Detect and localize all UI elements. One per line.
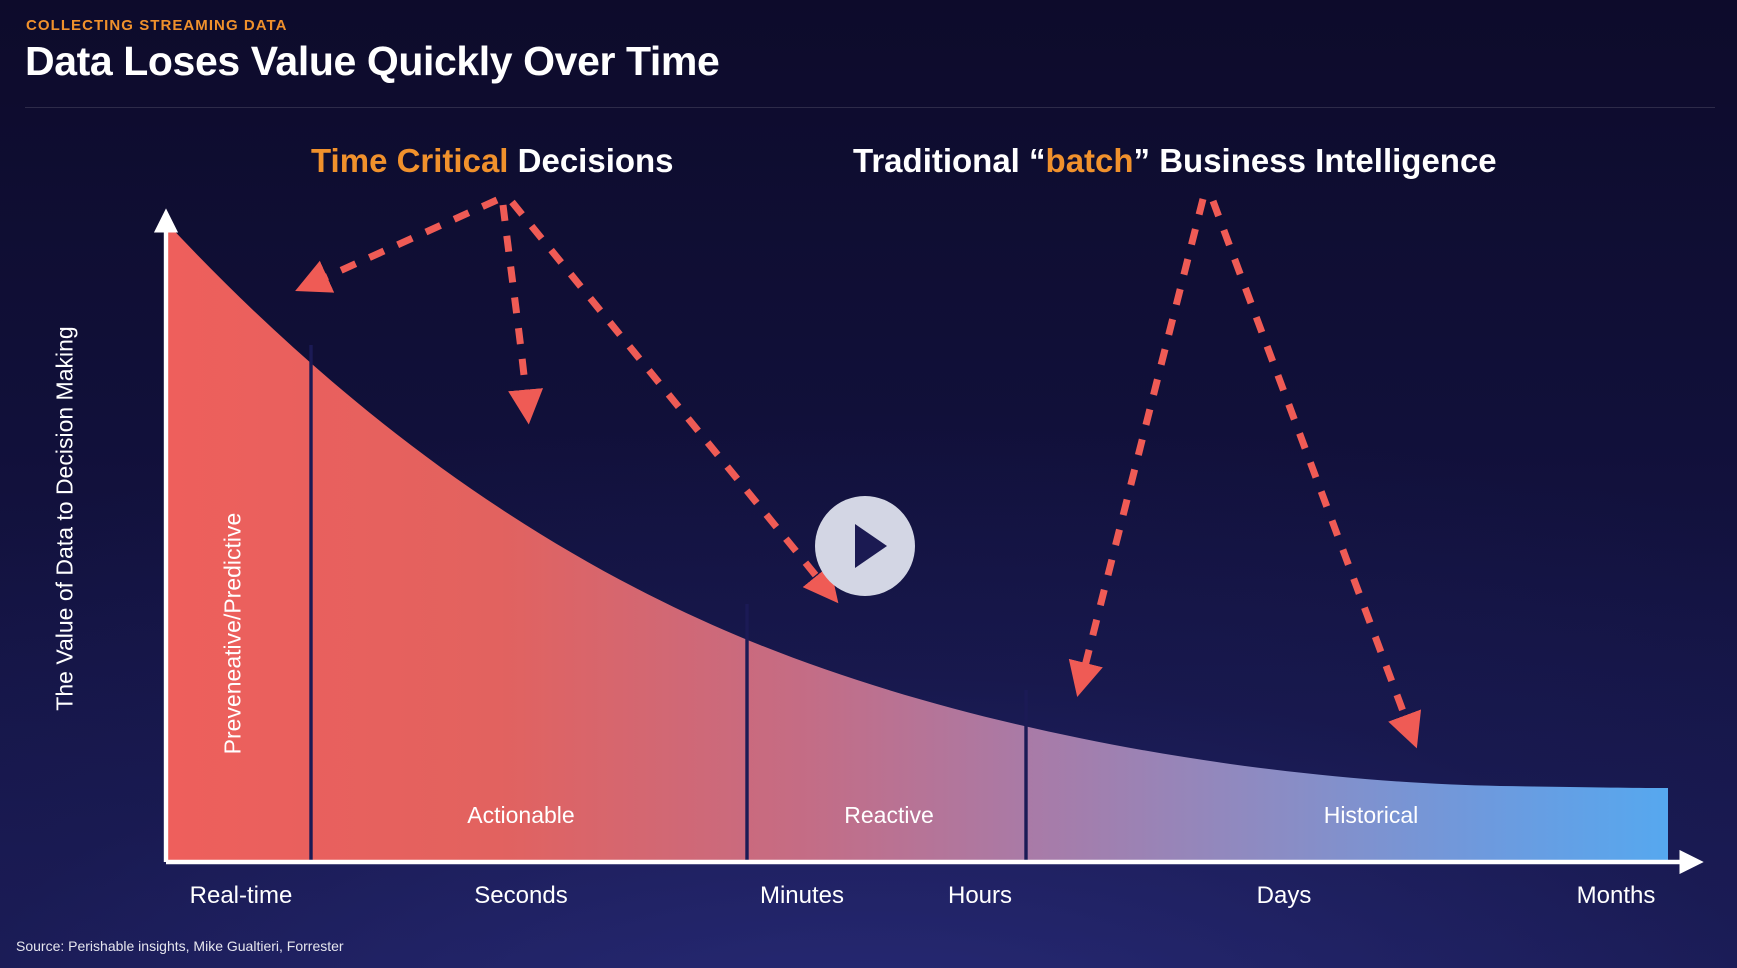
x-tick-real-time: Real-time xyxy=(190,882,293,910)
x-tick-days: Days xyxy=(1257,882,1312,910)
time-critical-arrow-right xyxy=(512,202,826,588)
zone-label-historical: Historical xyxy=(1324,802,1419,829)
x-tick-minutes: Minutes xyxy=(760,882,844,910)
y-axis-label: The Value of Data to Decision Making xyxy=(52,274,79,764)
zone-label-preventative: Preveneative/Predictive xyxy=(220,424,247,844)
decay-area-path xyxy=(166,222,1668,862)
batch-arrow-right xyxy=(1213,201,1410,730)
time-critical-arrow-left xyxy=(313,200,497,283)
x-tick-months: Months xyxy=(1577,882,1656,910)
x-tick-seconds: Seconds xyxy=(474,882,567,910)
chart-area-series xyxy=(166,222,1668,862)
batch-arrow-left xyxy=(1082,199,1203,678)
play-button[interactable] xyxy=(815,496,915,596)
time-critical-arrow-down xyxy=(503,205,527,405)
zone-label-actionable: Actionable xyxy=(467,802,574,829)
source-citation: Source: Perishable insights, Mike Gualti… xyxy=(16,938,344,954)
zone-label-reactive: Reactive xyxy=(844,802,933,829)
x-tick-hours: Hours xyxy=(948,882,1012,910)
play-icon xyxy=(855,524,887,568)
